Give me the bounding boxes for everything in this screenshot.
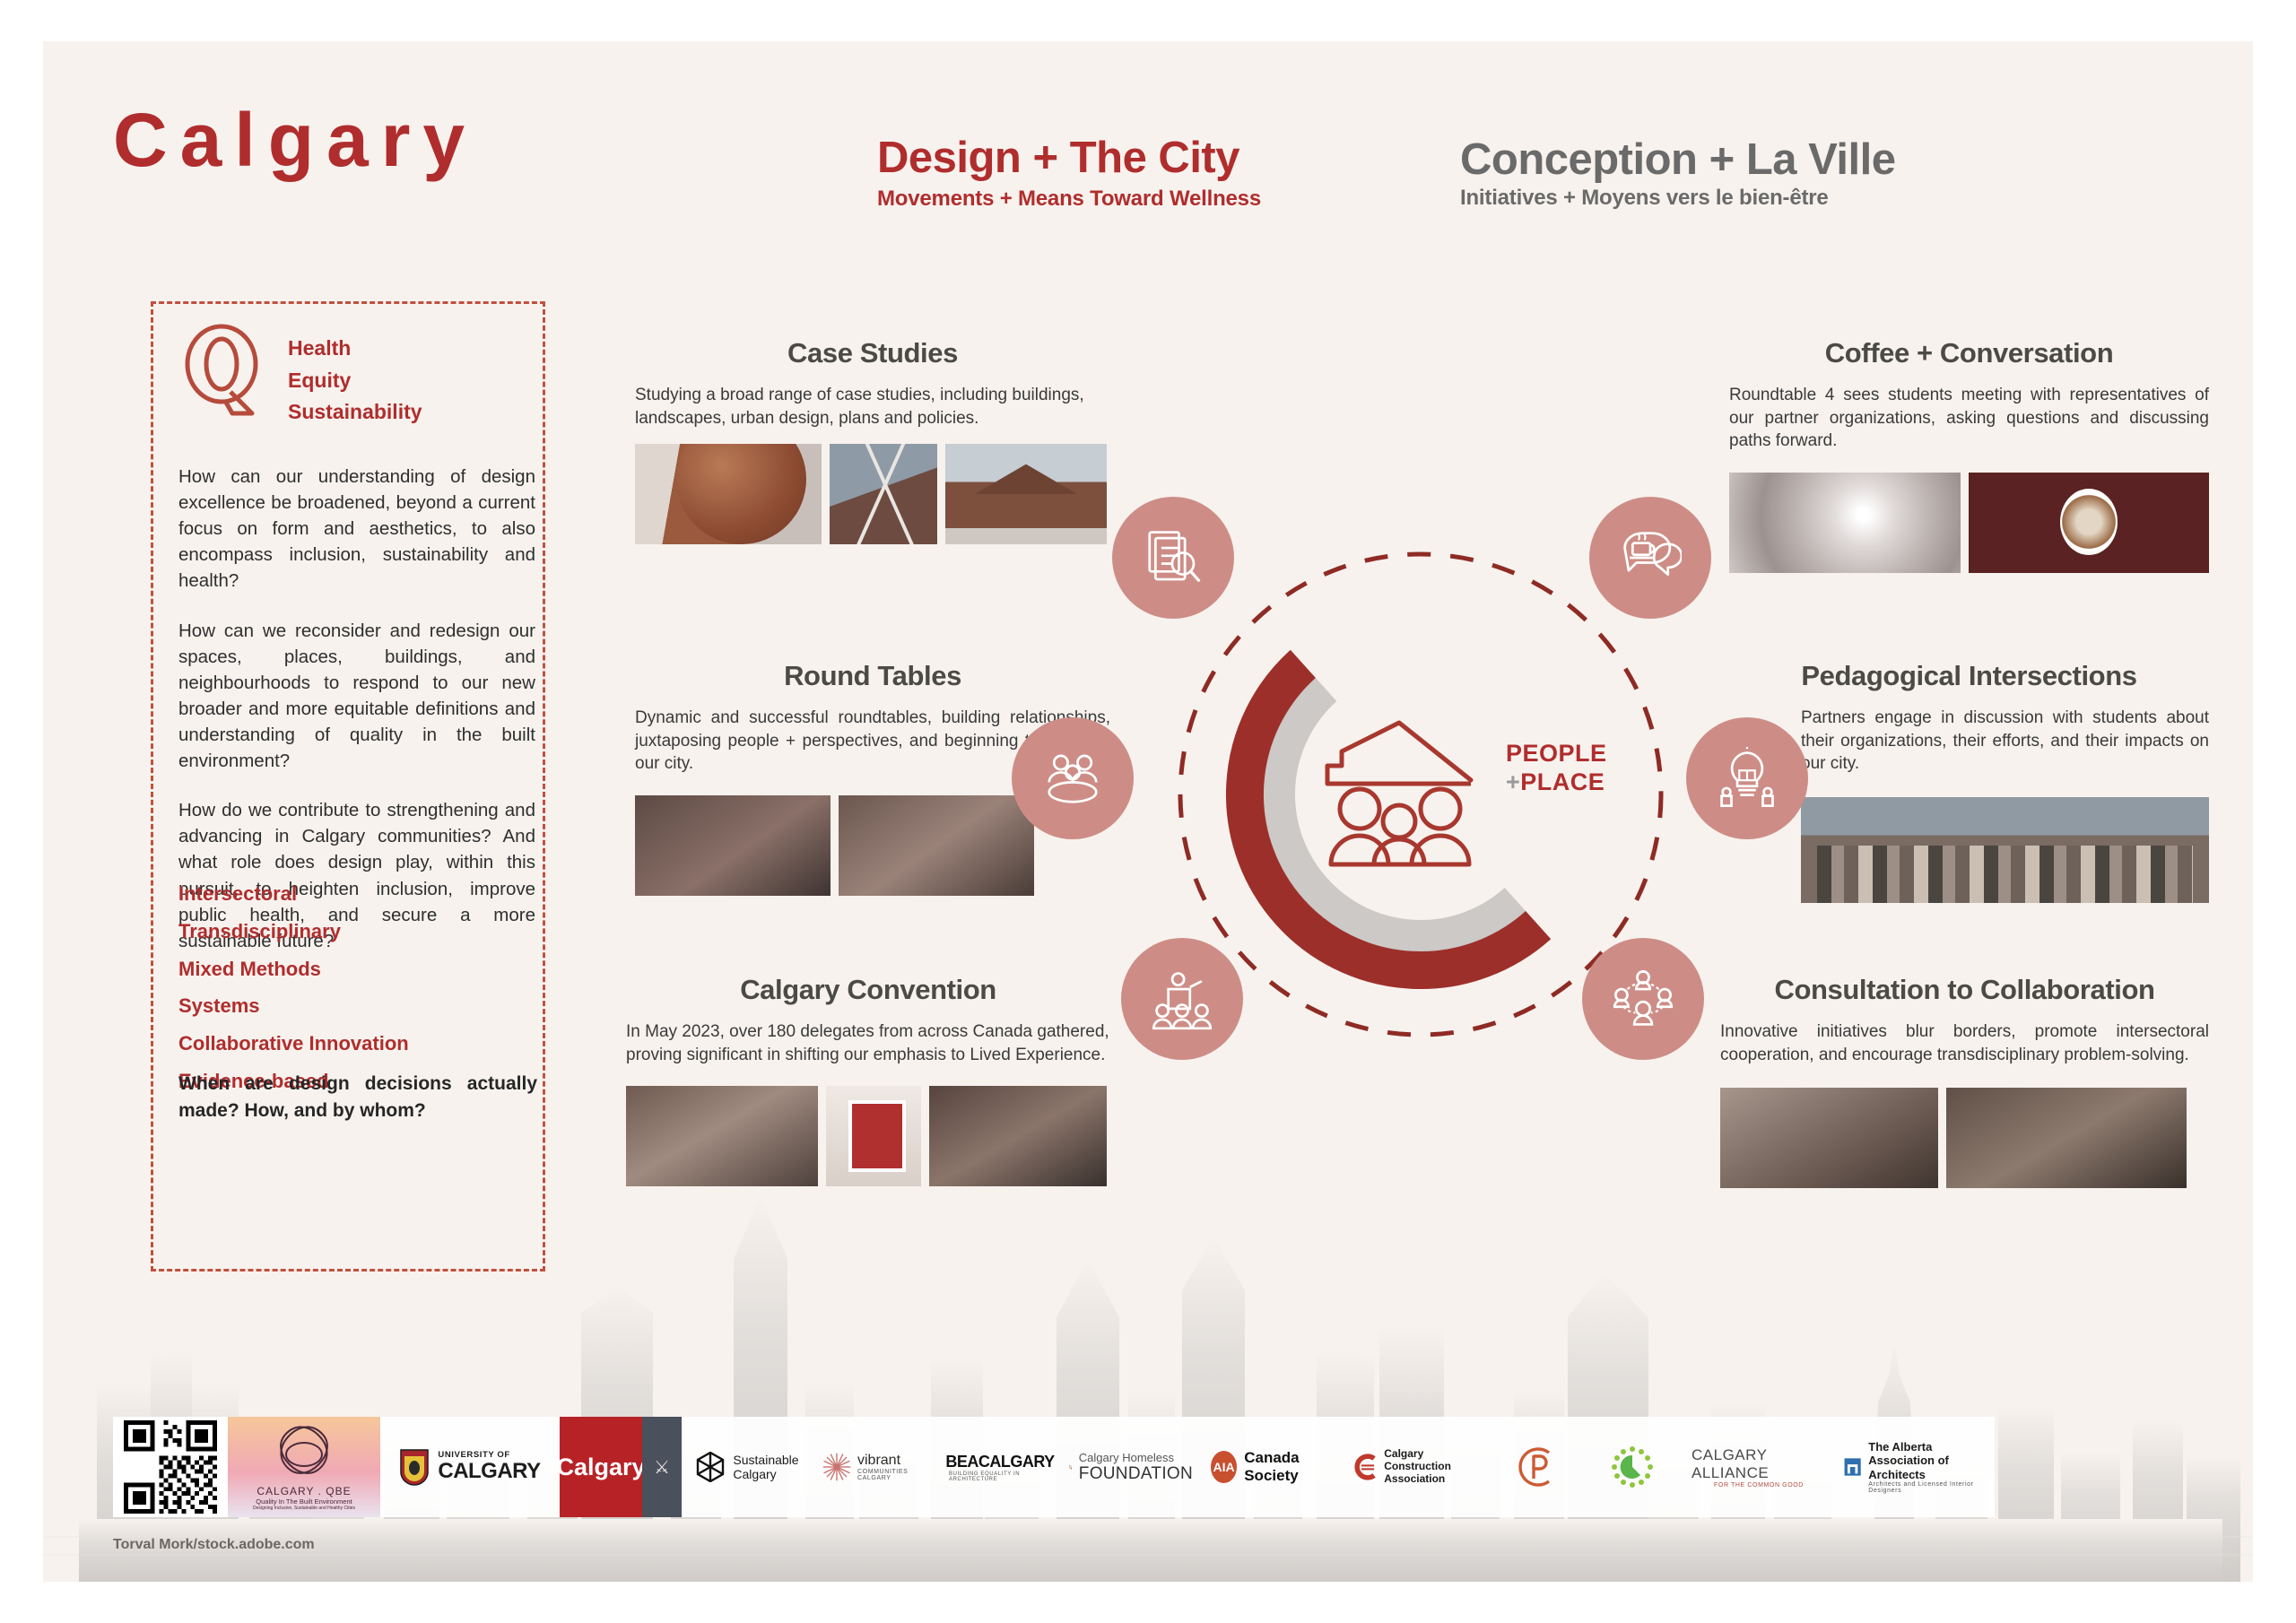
keywords-list: Intersectoral Transdisciplinary Mixed Me… <box>178 875 409 1100</box>
section-body-consultation-collaboration: Innovative initiatives blur borders, pro… <box>1720 1020 2209 1066</box>
city-of-calgary-crest-icon: ⚔ <box>642 1417 682 1517</box>
qbe-subtagline: Designing Inclusive, Sustainable and Hea… <box>253 1506 355 1511</box>
research-questions-panel: Health Equity Sustainability How can our… <box>151 301 545 1271</box>
section-title-consultation-collaboration: Consultation to Collaboration <box>1720 974 2209 1006</box>
vibrant-burst-icon <box>822 1449 852 1485</box>
section-title-calgary-convention: Calgary Convention <box>626 974 1110 1006</box>
centre-label-place: PLACE <box>1520 768 1605 795</box>
section-body-calgary-convention: In May 2023, over 180 delegates from acr… <box>626 1020 1110 1066</box>
question-2: How can we reconsider and redesign our s… <box>178 618 535 775</box>
question-1: How can our understanding of design exce… <box>178 464 535 595</box>
thumbnail-image <box>1801 797 2209 903</box>
keyword-intersectoral: Intersectoral <box>178 875 409 913</box>
uofc-crest-icon <box>399 1448 430 1486</box>
keyword-collaborative-innovation: Collaborative Innovation <box>178 1025 409 1063</box>
cca-line2: Construction Association <box>1384 1461 1487 1486</box>
aaa-icon <box>1844 1451 1861 1483</box>
aaa-line2: Architects and Licensed Interior Designe… <box>1868 1481 1986 1494</box>
section-title-coffee-conversation: Coffee + Conversation <box>1729 337 2209 369</box>
logo-aia-canada-society[interactable]: AIA Canada Society <box>1202 1417 1345 1517</box>
parachute-p-icon <box>1518 1446 1560 1488</box>
qbe-tagline: Quality In The Built Environment <box>256 1497 352 1506</box>
thumbnails-case-studies <box>635 444 1110 544</box>
thumbnail-image <box>1969 473 2209 573</box>
people-at-table-icon <box>1041 747 1104 810</box>
section-title-case-studies: Case Studies <box>635 337 1110 369</box>
keyword-transdisciplinary: Transdisciplinary <box>178 913 409 950</box>
pillar-sustainability: Sustainability <box>288 396 422 429</box>
cca-icon <box>1354 1450 1377 1484</box>
logo-green-calgary[interactable] <box>1582 1417 1683 1517</box>
title-block: Design + The City Movements + Means Towa… <box>877 135 1953 212</box>
keyword-mixed-methods: Mixed Methods <box>178 950 409 988</box>
thumbnail-image <box>830 444 937 544</box>
sustainable-calgary-line2: Calgary <box>733 1467 798 1481</box>
cca-line1: Calgary <box>1384 1448 1487 1461</box>
case-studies-node[interactable] <box>1112 497 1234 619</box>
house-with-people-icon <box>1318 714 1480 872</box>
section-case-studies: Case Studies Studying a broad range of c… <box>635 337 1110 544</box>
thumbnail-image <box>839 795 1034 896</box>
skyline-svg <box>43 1160 2253 1582</box>
thumbnail-image <box>1729 473 1961 573</box>
poster-sheet: Calgary Design + The City Movements + Me… <box>43 41 2253 1582</box>
section-title-round-tables: Round Tables <box>635 660 1110 692</box>
round-tables-node[interactable] <box>1012 717 1134 839</box>
section-calgary-convention: Calgary Convention In May 2023, over 180… <box>626 974 1110 1186</box>
alliance-line1: CALGARY ALLIANCE <box>1692 1446 1826 1482</box>
network-of-people-icon <box>1612 968 1674 1030</box>
poster-root: Calgary Design + The City Movements + Me… <box>0 0 2296 1623</box>
section-coffee-conversation: Coffee + Conversation Roundtable 4 sees … <box>1729 337 2209 573</box>
section-consultation-collaboration: Consultation to Collaboration Innovative… <box>1720 974 2209 1188</box>
logo-sustainable-calgary[interactable]: Sustainable Calgary <box>682 1417 813 1517</box>
aaa-line1: The Alberta Association of Architects <box>1868 1440 1986 1481</box>
logo-calgary-alliance[interactable]: CALGARY ALLIANCE FOR THE COMMON GOOD <box>1683 1417 1835 1517</box>
keyword-systems: Systems <box>178 987 409 1025</box>
qbe-petal-icon <box>269 1424 339 1483</box>
collaboration-node[interactable] <box>1582 938 1704 1060</box>
partner-logo-bar: CALGARY . QBE Quality In The Built Envir… <box>113 1417 1995 1517</box>
logo-vibrant-communities-calgary[interactable]: vibrant COMMUNITIES CALGARY <box>813 1417 940 1517</box>
subtitle-french: Initiatives + Moyens vers le bien-être <box>1460 186 1829 211</box>
qbe-name: CALGARY . QBE <box>257 1485 351 1497</box>
green-calgary-icon <box>1611 1445 1654 1488</box>
city-calgary-wordmark: Calgary <box>556 1454 645 1481</box>
pedagogical-node[interactable] <box>1686 717 1808 839</box>
uofc-line2: CALGARY <box>438 1460 540 1482</box>
logo-calgary-qbe[interactable]: CALGARY . QBE Quality In The Built Envir… <box>228 1417 380 1517</box>
logo-bea-calgary[interactable]: BEACALGARY BUILDING EQUALITY IN ARCHITEC… <box>940 1417 1060 1517</box>
aia-badge-icon: AIA <box>1211 1451 1237 1483</box>
section-title-pedagogical-intersections: Pedagogical Intersections <box>1729 660 2209 692</box>
pillar-health: Health <box>288 333 422 365</box>
section-body-pedagogical-intersections: Partners engage in discussion with stude… <box>1801 707 2209 776</box>
bea-line1: BEACALGARY <box>945 1453 1054 1471</box>
chf-line1: Calgary Homeless <box>1079 1451 1193 1464</box>
title-french: Conception + La Ville <box>1460 137 1896 183</box>
pillar-equity: Equity <box>288 365 422 397</box>
page-title: Calgary <box>113 102 477 178</box>
homeless-foundation-houses-icon <box>1069 1452 1073 1482</box>
pillars-row: Health Equity Sustainability <box>178 324 422 429</box>
logo-university-of-calgary[interactable]: UNIVERSITY OF CALGARY <box>380 1417 560 1517</box>
thumbnail-image <box>635 444 822 544</box>
logo-calgary-construction-association[interactable]: Calgary Construction Association <box>1345 1417 1496 1517</box>
logo-parachute[interactable] <box>1496 1417 1582 1517</box>
convention-node[interactable] <box>1121 938 1243 1060</box>
section-body-coffee-conversation: Roundtable 4 sees students meeting with … <box>1729 384 2209 453</box>
logo-calgary-homeless-foundation[interactable]: Calgary Homeless FOUNDATION <box>1060 1417 1202 1517</box>
bea-line2: BUILDING EQUALITY IN ARCHITECTURE <box>949 1471 1051 1482</box>
coffee-speech-bubbles-icon <box>1619 526 1682 589</box>
thumbnails-coffee-conversation <box>1729 473 2209 573</box>
logo-alberta-association-of-architects[interactable]: The Alberta Association of Architects Ar… <box>1835 1417 1995 1517</box>
centre-label-people: PEOPLE <box>1506 739 1694 768</box>
pillars-list: Health Equity Sustainability <box>288 333 422 429</box>
vibrant-line2: COMMUNITIES CALGARY <box>857 1469 931 1481</box>
chf-line2: FOUNDATION <box>1079 1464 1193 1484</box>
sustainable-calgary-line1: Sustainable <box>733 1453 798 1467</box>
alliance-line2: FOR THE COMMON GOOD <box>1714 1482 1804 1488</box>
photo-credit: Torval Mork/stock.adobe.com <box>113 1537 315 1553</box>
section-body-case-studies: Studying a broad range of case studies, … <box>635 384 1110 430</box>
calgary-skyline-illustration <box>43 1160 2253 1582</box>
question-speech-bubble-icon <box>178 324 268 421</box>
coffee-conversation-node[interactable] <box>1589 497 1711 619</box>
vibrant-line1: vibrant <box>857 1453 931 1469</box>
logo-city-of-calgary[interactable]: Calgary <box>560 1417 642 1517</box>
sustainable-calgary-icon <box>695 1452 726 1482</box>
closing-question: When are design decisions actually made?… <box>178 1071 537 1124</box>
thumbnail-image <box>635 795 831 896</box>
lightbulb-book-icon <box>1716 747 1779 810</box>
presenter-audience-icon <box>1151 968 1213 1030</box>
qr-code[interactable] <box>113 1417 228 1517</box>
centre-label-plus: + <box>1506 768 1520 795</box>
thumbnail-image <box>945 444 1107 544</box>
aia-line2: Canada Society <box>1244 1449 1336 1485</box>
thumbnails-pedagogical-intersections <box>1801 797 2209 903</box>
people-place-diagram: PEOPLE +PLACE <box>1098 490 1744 1099</box>
centre-label: PEOPLE +PLACE <box>1506 739 1694 797</box>
qr-code-icon <box>124 1420 217 1514</box>
document-magnifier-icon <box>1142 526 1205 589</box>
